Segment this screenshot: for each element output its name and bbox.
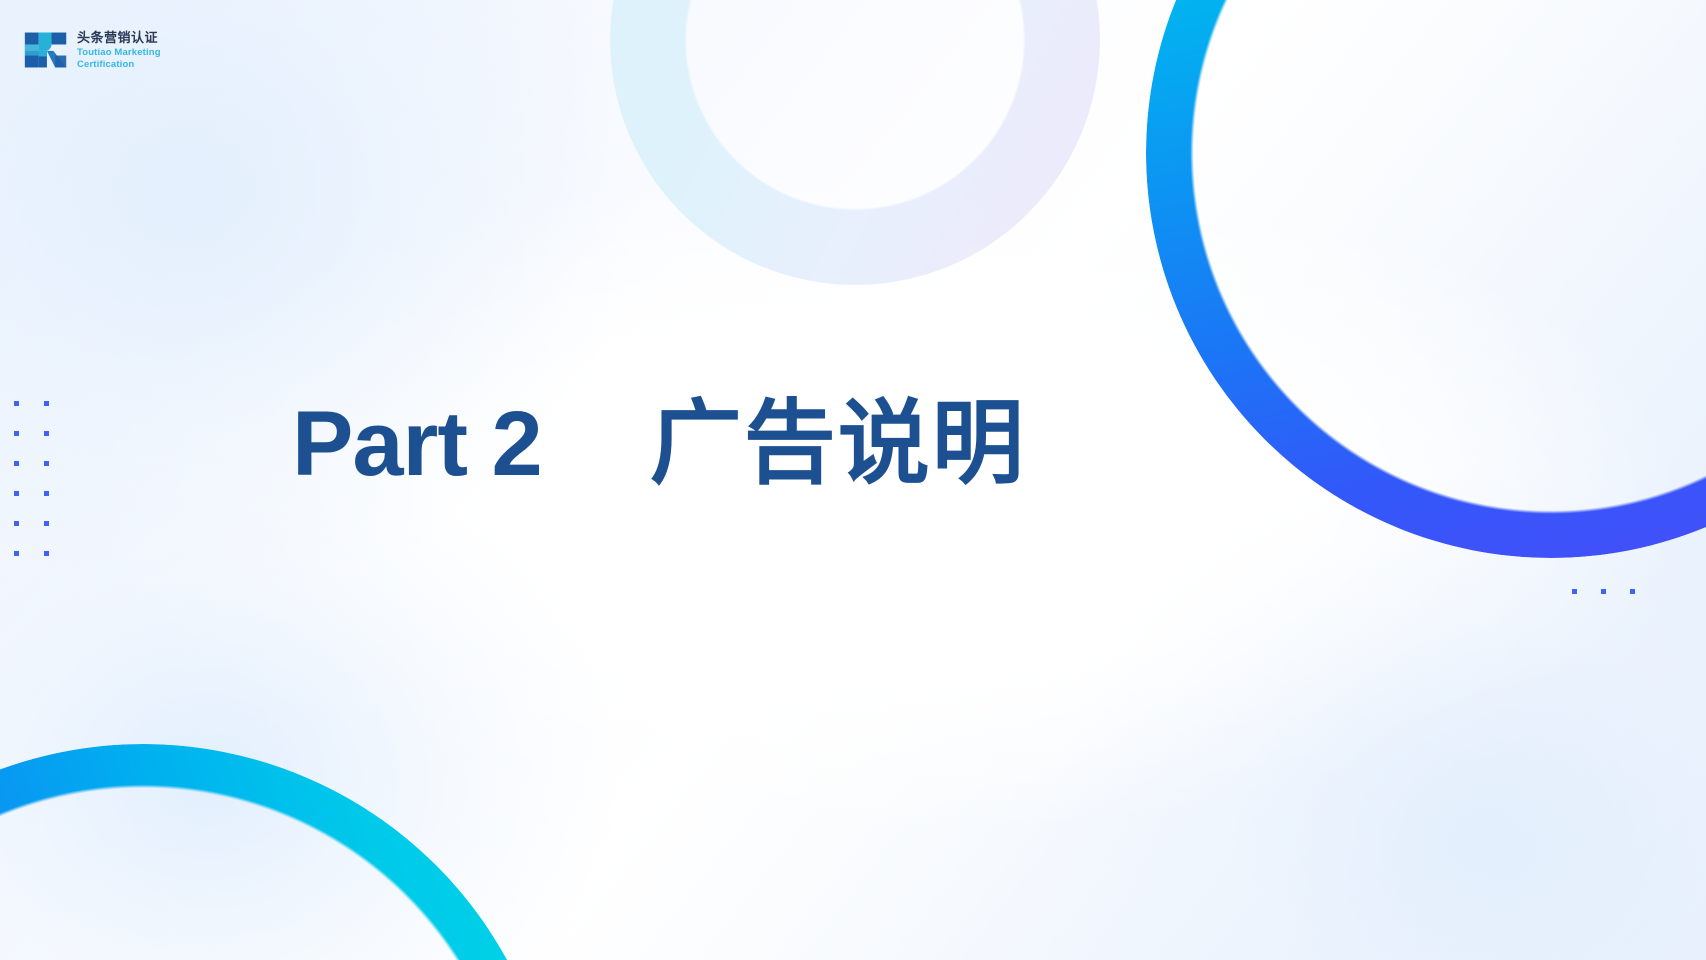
slide-part-2-ad-description: 头条营销认证 Toutiao Marketing Certification P… bbox=[0, 0, 1706, 960]
dot bbox=[44, 461, 49, 466]
toutiao-marketing-certification-logo-mark-icon bbox=[23, 27, 69, 73]
dot bbox=[14, 521, 19, 526]
dot bbox=[14, 551, 19, 556]
dot bbox=[44, 521, 49, 526]
dot bbox=[44, 491, 49, 496]
dot bbox=[14, 401, 19, 406]
dot-grid-left bbox=[14, 401, 49, 556]
dot bbox=[44, 431, 49, 436]
brand-name-en-line2: Certification bbox=[77, 59, 134, 70]
dot bbox=[14, 431, 19, 436]
brand-name-en-line1: Toutiao Marketing bbox=[77, 47, 161, 58]
page-title: Part 2 广告说明 bbox=[292, 398, 1026, 490]
dot bbox=[1630, 589, 1635, 594]
brand-logo-text: 头条营销认证 Toutiao Marketing Certification bbox=[77, 30, 161, 70]
brand-name-en: Toutiao Marketing Certification bbox=[77, 47, 161, 70]
dot bbox=[1601, 589, 1606, 594]
brand-name-cn: 头条营销认证 bbox=[77, 31, 161, 44]
dot-grid-right bbox=[1572, 589, 1635, 594]
brand-logo: 头条营销认证 Toutiao Marketing Certification bbox=[23, 27, 161, 73]
page-title-section-label: 广告说明 bbox=[650, 398, 1026, 490]
page-title-part-label: Part 2 bbox=[292, 398, 542, 490]
dot bbox=[14, 461, 19, 466]
dot bbox=[44, 551, 49, 556]
dot bbox=[14, 491, 19, 496]
dot bbox=[44, 401, 49, 406]
dot bbox=[1572, 589, 1577, 594]
